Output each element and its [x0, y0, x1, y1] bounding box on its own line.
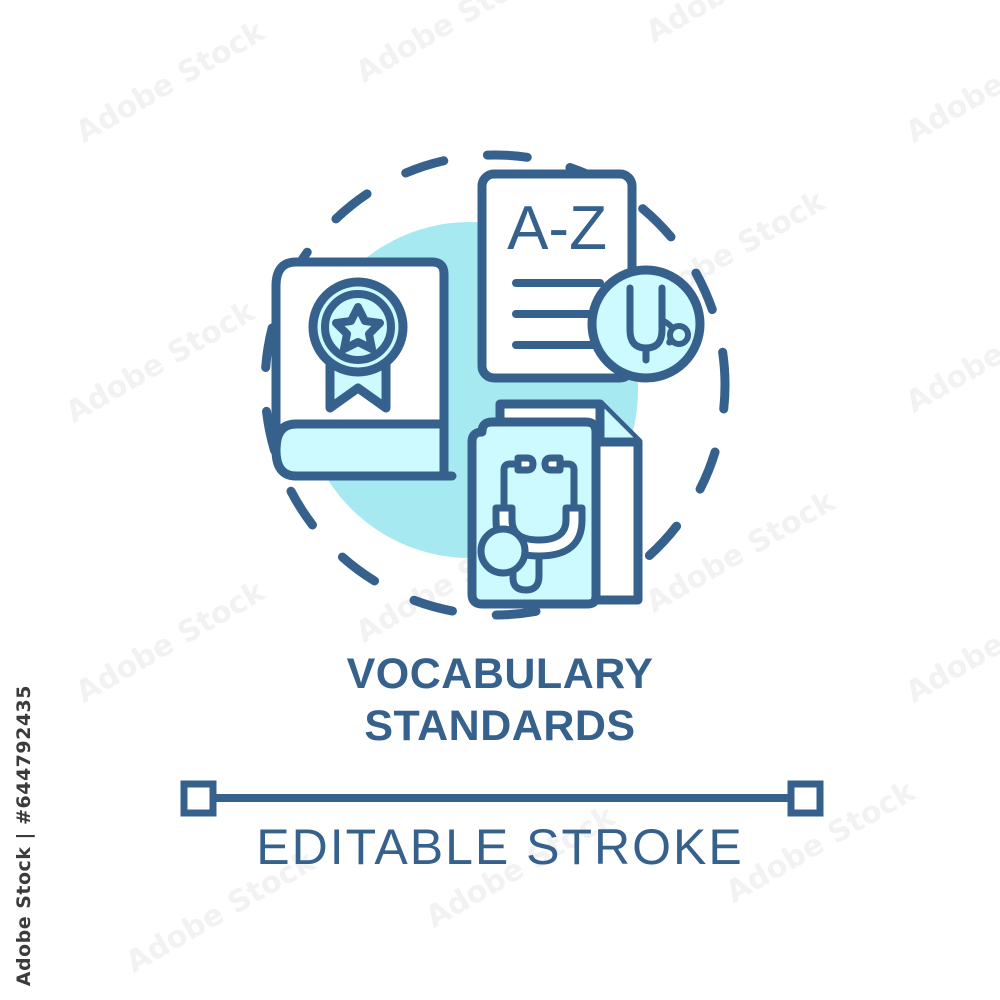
medical-record-document [472, 404, 638, 604]
az-document-text: A-Z [507, 194, 607, 263]
stroke-bar [0, 770, 1000, 832]
screenshot-root: Adobe Stock Adobe Stock Adobe Stock Adob… [0, 0, 1000, 1000]
stroke-bar-left-handle[interactable] [184, 784, 213, 813]
concept-illustration: A-Z [0, 0, 1000, 1000]
book-spine [276, 424, 444, 476]
stethoscope-bell-icon [481, 529, 525, 573]
stethoscope-badge-bell-icon [670, 326, 688, 344]
stethoscope-badge [592, 270, 700, 378]
award-book [276, 262, 452, 476]
stroke-bar-right-handle[interactable] [791, 784, 820, 813]
